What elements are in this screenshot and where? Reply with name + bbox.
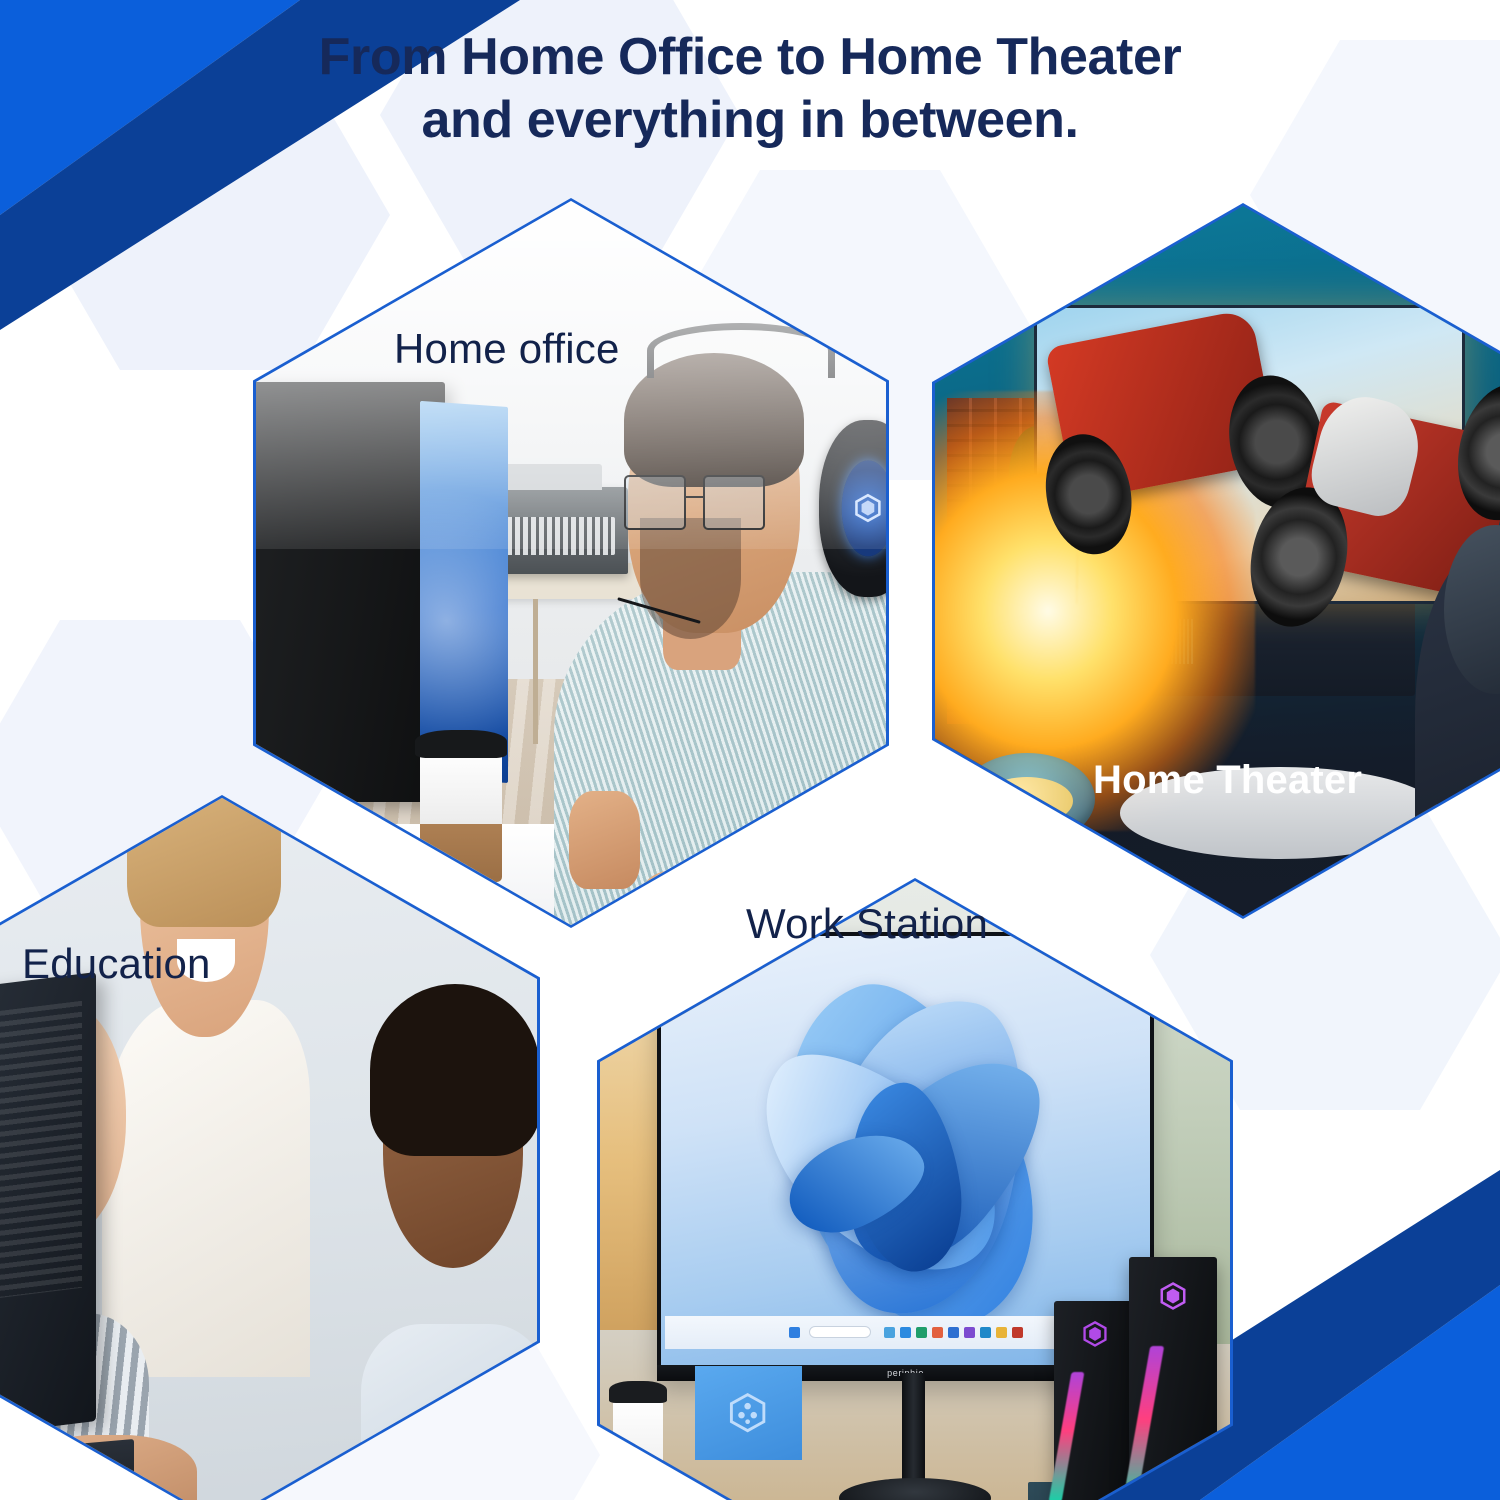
taskbar-search-input[interactable] [809,1326,871,1338]
monitor-stand-neck [902,1373,925,1489]
app-icon[interactable] [900,1327,911,1338]
hexagon-logo-icon [1158,1281,1188,1316]
banner-canvas: From Home Office to Home Theater and eve… [0,0,1500,1500]
crt-monitor-prop [0,972,96,1449]
headline-line-1: From Home Office to Home Theater [319,28,1182,86]
pc-tower-prop [1054,1301,1136,1500]
headline-line-2: and everything in between. [0,89,1500,152]
app-icon[interactable] [932,1327,943,1338]
cell-label-home-office: Home office [394,325,620,373]
app-icon[interactable] [1012,1327,1023,1338]
start-icon[interactable] [789,1327,800,1338]
app-icon[interactable] [964,1327,975,1338]
sticky-note-prop [695,1366,802,1460]
app-icon[interactable] [916,1327,927,1338]
cell-label-education: Education [22,940,211,988]
app-icon[interactable] [996,1327,1007,1338]
app-icon[interactable] [884,1327,895,1338]
hexagon-logo-icon [723,1391,772,1434]
hexagon-logo-icon [1081,1320,1109,1353]
page-headline: From Home Office to Home Theater and eve… [0,26,1500,153]
windows-11-bloom-wallpaper [729,936,1082,1339]
app-icon[interactable] [980,1327,991,1338]
app-icon[interactable] [948,1327,959,1338]
cell-label-work-station: Work Station [746,900,988,948]
cell-label-home-theater: Home Theater [1093,758,1362,803]
